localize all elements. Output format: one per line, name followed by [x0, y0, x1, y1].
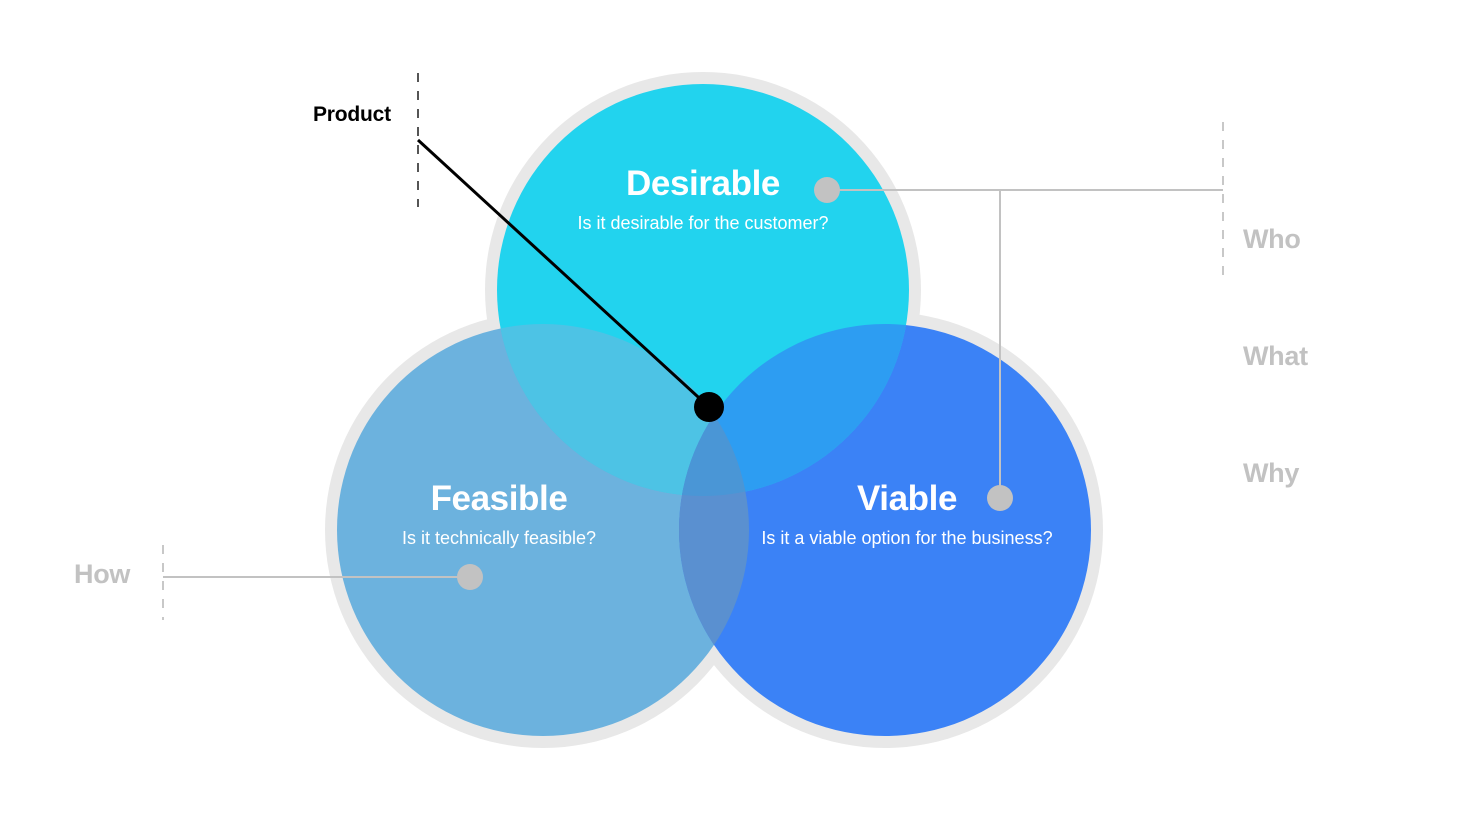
label-product: Product [313, 103, 391, 127]
desirable-dot[interactable] [814, 177, 840, 203]
label-how: How [74, 559, 130, 590]
label-why: Why [1243, 454, 1308, 493]
venn-diagram-graphics [0, 0, 1457, 830]
label-what: What [1243, 337, 1308, 376]
label-who: Who [1243, 220, 1308, 259]
venn-diagram-canvas: Product How Who What Why Desirable Is it… [0, 0, 1457, 830]
feasible-dot[interactable] [457, 564, 483, 590]
center-dot[interactable] [694, 392, 724, 422]
viable-dot[interactable] [987, 485, 1013, 511]
label-who-what-why-group: Who What Why [1243, 142, 1308, 571]
